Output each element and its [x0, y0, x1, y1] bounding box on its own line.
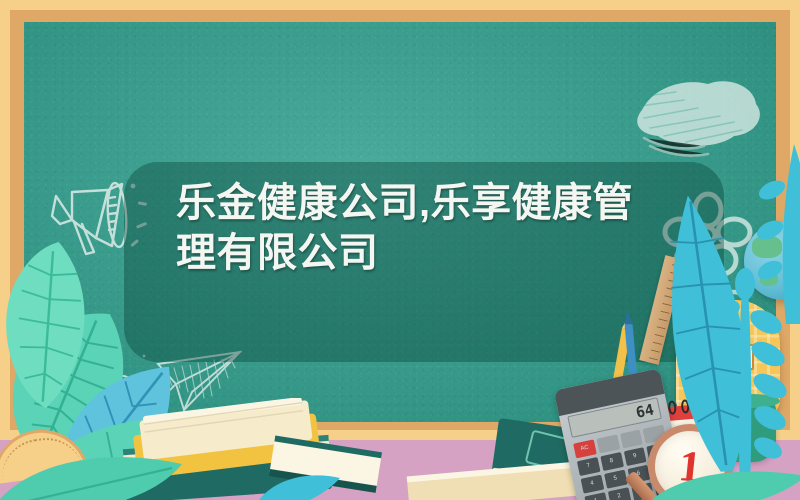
calculator-key: 7 — [577, 457, 600, 476]
calculator-key: 8 — [600, 452, 623, 471]
leaf-mint-front-right — [640, 466, 800, 500]
leaf-teal-far-right — [756, 138, 800, 333]
pen-tip — [623, 310, 632, 325]
calculator-key — [596, 435, 619, 454]
leaf-teal-front-mid — [252, 470, 342, 500]
page-title: 乐金健康公司,乐享健康管 理有限公司 — [176, 178, 676, 278]
leaf-mint-upper — [0, 236, 116, 421]
calculator-key: 5 — [604, 470, 627, 489]
calculator-key: AC — [573, 439, 596, 458]
calculator-key: 1 — [584, 492, 607, 500]
page-title-line-2: 理有限公司 — [176, 228, 676, 278]
calculator-key: 4 — [581, 475, 604, 494]
page-title-line-1: 乐金健康公司,乐享健康管 — [176, 178, 676, 228]
banner-image: 乐金健康公司,乐享健康管 理有限公司 — [0, 0, 800, 500]
calculator-key: 2 — [608, 487, 631, 500]
cloud-scribble-icon — [624, 64, 774, 164]
leaf-mint-front — [0, 446, 190, 500]
